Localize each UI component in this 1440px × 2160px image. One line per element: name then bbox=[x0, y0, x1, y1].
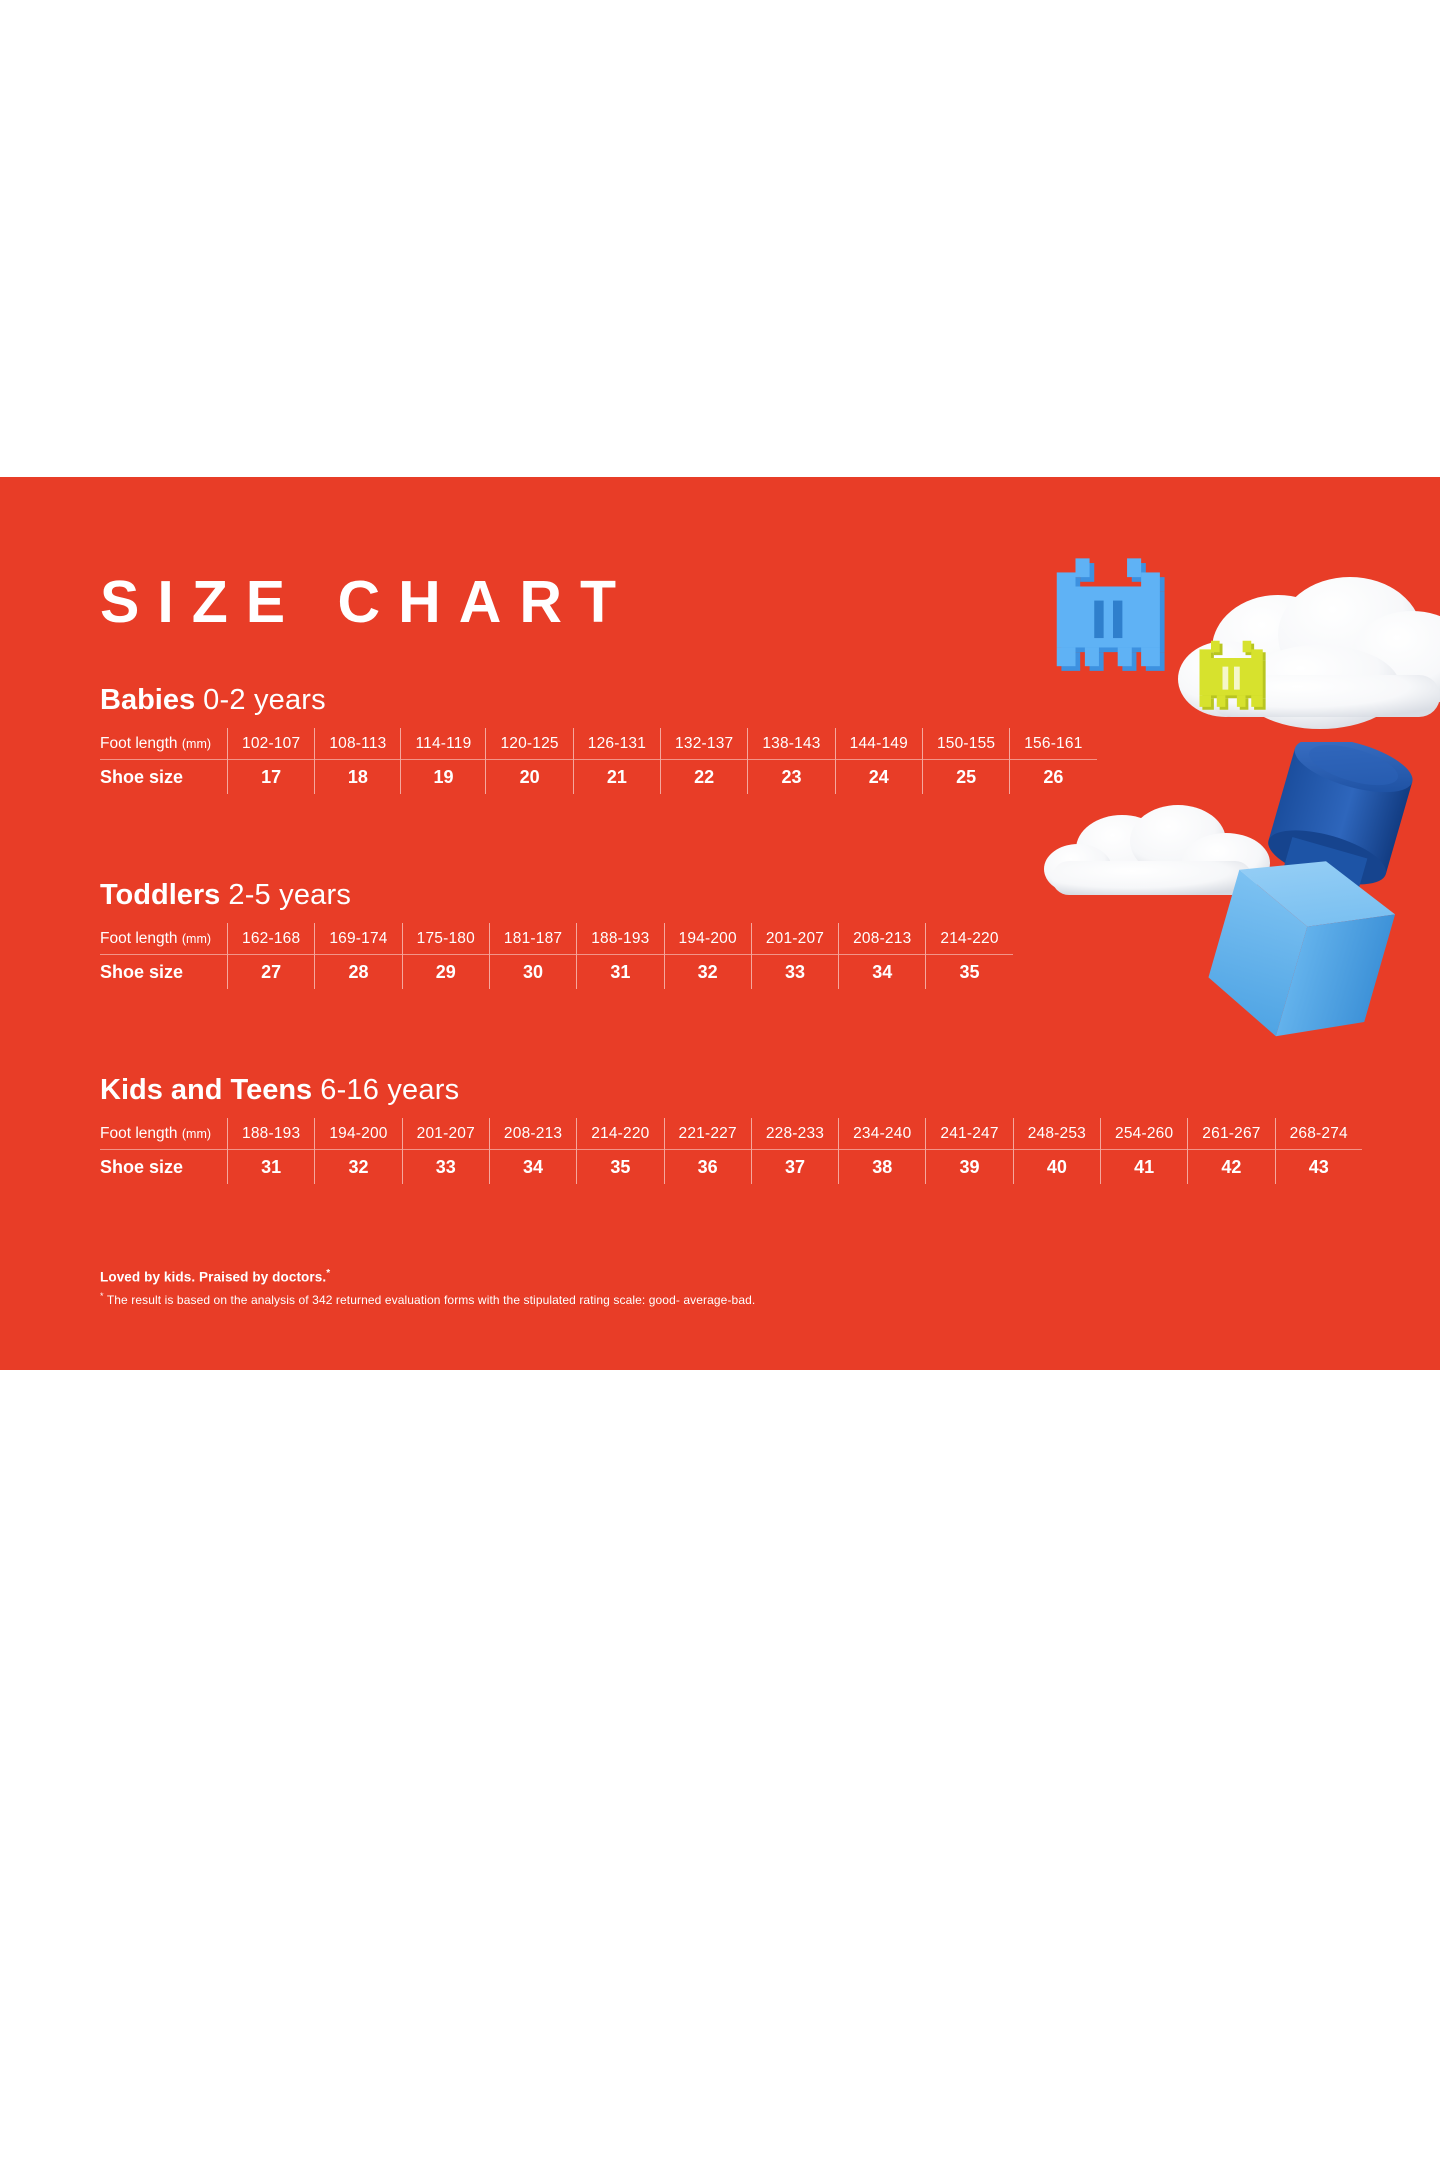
table-cell-foot-length: 241-247 bbox=[926, 1118, 1013, 1149]
table-cell-shoe-size: 39 bbox=[926, 1149, 1013, 1184]
section-title: Kids and Teens bbox=[100, 1074, 312, 1106]
row-label-foot-length: Foot length (mm) bbox=[100, 923, 228, 954]
table-row-foot-length: Foot length (mm) 102-107 108-113 114-119… bbox=[100, 728, 1097, 759]
footer-note: * The result is based on the analysis of… bbox=[100, 1291, 755, 1309]
table-cell-shoe-size: 35 bbox=[577, 1149, 664, 1184]
section-age-range: 6-16 years bbox=[320, 1074, 459, 1106]
row-label-shoe-size: Shoe size bbox=[100, 1149, 228, 1184]
table-cell-shoe-size: 32 bbox=[664, 954, 751, 989]
table-cell-shoe-size: 40 bbox=[1013, 1149, 1100, 1184]
table-cell-shoe-size: 30 bbox=[489, 954, 576, 989]
table-cell-foot-length: 194-200 bbox=[664, 923, 751, 954]
table-cell-foot-length: 150-155 bbox=[922, 728, 1009, 759]
table-cell-foot-length: 108-113 bbox=[315, 728, 401, 759]
table-cell-foot-length: 188-193 bbox=[577, 923, 664, 954]
table-cell-shoe-size: 31 bbox=[577, 954, 664, 989]
section-kids-and-teens: Kids and Teens 6-16 years Foot length (m… bbox=[100, 1075, 1362, 1184]
table-cell-shoe-size: 18 bbox=[315, 759, 401, 794]
section-age-range: 0-2 years bbox=[203, 684, 326, 716]
size-table-kids-and-teens: Foot length (mm) 188-193 194-200 201-207… bbox=[100, 1118, 1362, 1184]
table-cell-shoe-size: 43 bbox=[1275, 1149, 1362, 1184]
section-title: Toddlers bbox=[100, 879, 220, 911]
page-root: SIZE CHART bbox=[0, 0, 1440, 2160]
table-cell-shoe-size: 19 bbox=[401, 759, 486, 794]
table-cell-foot-length: 138-143 bbox=[748, 728, 835, 759]
row-label-foot-length-unit: (mm) bbox=[182, 737, 211, 751]
row-label-foot-length-text: Foot length bbox=[100, 1125, 178, 1142]
footer-headline-text: Loved by kids. Praised by doctors. bbox=[100, 1270, 326, 1285]
table-row-shoe-size: Shoe size 27 28 29 30 31 32 33 34 35 bbox=[100, 954, 1013, 989]
row-label-foot-length: Foot length (mm) bbox=[100, 728, 228, 759]
invader-yellow-icon bbox=[1188, 635, 1280, 727]
table-cell-shoe-size: 25 bbox=[922, 759, 1009, 794]
table-row-foot-length: Foot length (mm) 162-168 169-174 175-180… bbox=[100, 923, 1013, 954]
table-cell-foot-length: 221-227 bbox=[664, 1118, 751, 1149]
table-cell-foot-length: 208-213 bbox=[839, 923, 926, 954]
table-cell-foot-length: 214-220 bbox=[577, 1118, 664, 1149]
section-title: Babies bbox=[100, 684, 195, 716]
section-toddlers: Toddlers 2-5 years Foot length (mm) 162-… bbox=[100, 880, 1013, 989]
table-cell-shoe-size: 26 bbox=[1010, 759, 1097, 794]
table-cell-shoe-size: 32 bbox=[315, 1149, 402, 1184]
table-cell-shoe-size: 29 bbox=[402, 954, 489, 989]
section-heading: Babies 0-2 years bbox=[100, 685, 1097, 715]
table-cell-shoe-size: 41 bbox=[1101, 1149, 1188, 1184]
table-cell-shoe-size: 34 bbox=[489, 1149, 576, 1184]
table-cell-foot-length: 188-193 bbox=[228, 1118, 315, 1149]
table-cell-shoe-size: 20 bbox=[486, 759, 573, 794]
table-cell-foot-length: 156-161 bbox=[1010, 728, 1097, 759]
table-cell-shoe-size: 37 bbox=[751, 1149, 838, 1184]
table-cell-shoe-size: 33 bbox=[402, 1149, 489, 1184]
row-label-foot-length: Foot length (mm) bbox=[100, 1118, 228, 1149]
table-cell-shoe-size: 23 bbox=[748, 759, 835, 794]
table-cell-shoe-size: 36 bbox=[664, 1149, 751, 1184]
table-row-shoe-size: Shoe size 17 18 19 20 21 22 23 24 25 26 bbox=[100, 759, 1097, 794]
section-age-range: 2-5 years bbox=[228, 879, 351, 911]
table-cell-foot-length: 194-200 bbox=[315, 1118, 402, 1149]
table-cell-shoe-size: 34 bbox=[839, 954, 926, 989]
section-heading: Toddlers 2-5 years bbox=[100, 880, 1013, 910]
footer-note-text: The result is based on the analysis of 3… bbox=[104, 1293, 756, 1307]
section-heading: Kids and Teens 6-16 years bbox=[100, 1075, 1362, 1105]
size-chart-poster: SIZE CHART bbox=[0, 477, 1440, 1370]
table-cell-foot-length: 228-233 bbox=[751, 1118, 838, 1149]
table-cell-foot-length: 114-119 bbox=[401, 728, 486, 759]
row-label-foot-length-text: Foot length bbox=[100, 735, 178, 752]
table-cell-shoe-size: 24 bbox=[835, 759, 922, 794]
table-cell-foot-length: 234-240 bbox=[839, 1118, 926, 1149]
table-cell-foot-length: 102-107 bbox=[228, 728, 315, 759]
table-cell-shoe-size: 42 bbox=[1188, 1149, 1275, 1184]
table-cell-foot-length: 169-174 bbox=[315, 923, 402, 954]
table-cell-shoe-size: 33 bbox=[751, 954, 838, 989]
table-cell-shoe-size: 21 bbox=[573, 759, 660, 794]
table-cell-shoe-size: 17 bbox=[228, 759, 315, 794]
footer-headline-marker: * bbox=[326, 1268, 330, 1279]
size-table-toddlers: Foot length (mm) 162-168 169-174 175-180… bbox=[100, 923, 1013, 989]
table-cell-shoe-size: 31 bbox=[228, 1149, 315, 1184]
size-table-babies: Foot length (mm) 102-107 108-113 114-119… bbox=[100, 728, 1097, 794]
table-cell-foot-length: 268-274 bbox=[1275, 1118, 1362, 1149]
row-label-shoe-size: Shoe size bbox=[100, 954, 228, 989]
section-babies: Babies 0-2 years Foot length (mm) 102-10… bbox=[100, 685, 1097, 794]
table-cell-foot-length: 144-149 bbox=[835, 728, 922, 759]
table-cell-foot-length: 248-253 bbox=[1013, 1118, 1100, 1149]
table-cell-foot-length: 132-137 bbox=[661, 728, 748, 759]
toy-block-icon bbox=[1170, 742, 1440, 1072]
table-cell-foot-length: 181-187 bbox=[489, 923, 576, 954]
table-cell-foot-length: 208-213 bbox=[489, 1118, 576, 1149]
table-cell-foot-length: 120-125 bbox=[486, 728, 573, 759]
row-label-foot-length-unit: (mm) bbox=[182, 932, 211, 946]
table-row-foot-length: Foot length (mm) 188-193 194-200 201-207… bbox=[100, 1118, 1362, 1149]
table-cell-shoe-size: 22 bbox=[661, 759, 748, 794]
table-cell-foot-length: 175-180 bbox=[402, 923, 489, 954]
table-cell-foot-length: 261-267 bbox=[1188, 1118, 1275, 1149]
row-label-shoe-size: Shoe size bbox=[100, 759, 228, 794]
row-label-foot-length-unit: (mm) bbox=[182, 1127, 211, 1141]
table-cell-foot-length: 214-220 bbox=[926, 923, 1013, 954]
table-cell-foot-length: 254-260 bbox=[1101, 1118, 1188, 1149]
table-cell-shoe-size: 28 bbox=[315, 954, 402, 989]
table-cell-shoe-size: 35 bbox=[926, 954, 1013, 989]
table-cell-shoe-size: 38 bbox=[839, 1149, 926, 1184]
table-cell-shoe-size: 27 bbox=[228, 954, 315, 989]
table-row-shoe-size: Shoe size 31 32 33 34 35 36 37 38 39 40 … bbox=[100, 1149, 1362, 1184]
invader-blue-icon bbox=[1038, 549, 1188, 699]
table-cell-foot-length: 201-207 bbox=[751, 923, 838, 954]
footer: Loved by kids. Praised by doctors.* * Th… bbox=[100, 1267, 755, 1309]
page-title: SIZE CHART bbox=[100, 573, 634, 632]
decoration-cloud-block bbox=[1040, 747, 1440, 1087]
footer-headline: Loved by kids. Praised by doctors.* bbox=[100, 1267, 755, 1286]
table-cell-foot-length: 162-168 bbox=[228, 923, 315, 954]
row-label-foot-length-text: Foot length bbox=[100, 930, 178, 947]
table-cell-foot-length: 126-131 bbox=[573, 728, 660, 759]
table-cell-foot-length: 201-207 bbox=[402, 1118, 489, 1149]
